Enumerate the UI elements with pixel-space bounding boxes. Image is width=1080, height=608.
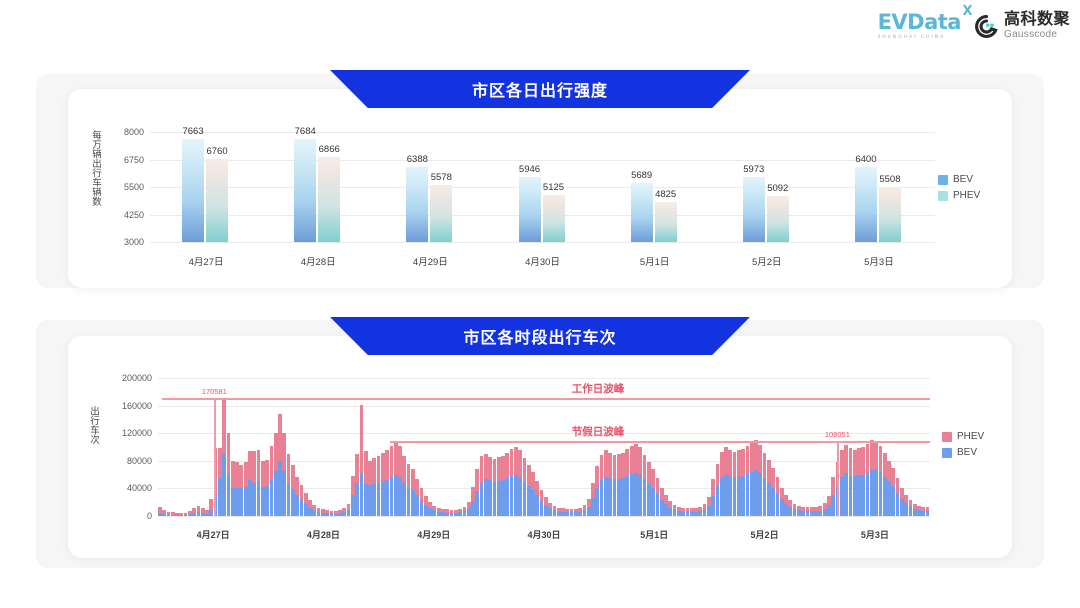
- chart2-segment-bev: [660, 500, 664, 516]
- chart2-stacked-bar[interactable]: [763, 453, 767, 516]
- chart2-stacked-bar[interactable]: [613, 455, 617, 516]
- chart2-segment-bev: [505, 478, 509, 516]
- chart2-stacked-bar[interactable]: [445, 509, 449, 516]
- chart2-stacked-bar[interactable]: [312, 505, 316, 516]
- chart2-segment-bev: [239, 488, 243, 516]
- chart2-stacked-bar[interactable]: [741, 449, 745, 516]
- chart2-stacked-bar[interactable]: [261, 461, 265, 516]
- chart2-segment-phev: [763, 453, 767, 479]
- chart2-stacked-bar[interactable]: [664, 495, 668, 516]
- chart2-stacked-bar[interactable]: [390, 446, 394, 516]
- chart2-stacked-bar[interactable]: [921, 507, 925, 516]
- chart2-stacked-bar[interactable]: [638, 447, 642, 516]
- chart2-stacked-bar[interactable]: [398, 446, 402, 516]
- chart2-segment-bev: [188, 514, 192, 516]
- chart2-stacked-bar[interactable]: [300, 485, 304, 516]
- chart2-stacked-bar[interactable]: [385, 450, 389, 516]
- chart2-stacked-bar[interactable]: [681, 508, 685, 516]
- chart2-stacked-bar[interactable]: [604, 450, 608, 516]
- chart2-stacked-bar[interactable]: [222, 398, 226, 516]
- chart2-x-tick-label: 5月3日: [861, 528, 889, 541]
- chart2-stacked-bar[interactable]: [420, 488, 424, 516]
- chart2-segment-phev: [857, 448, 861, 475]
- chart2-x-tick-label: 4月29日: [417, 528, 450, 541]
- chart2-legend-item-bev[interactable]: BEV: [942, 447, 984, 458]
- chart2-stacked-bar[interactable]: [407, 464, 411, 516]
- chart2-stacked-bar[interactable]: [776, 477, 780, 516]
- chart2-stacked-bar[interactable]: [698, 507, 702, 516]
- chart2-stacked-bar[interactable]: [330, 511, 334, 516]
- chart2-segment-phev: [651, 469, 655, 488]
- chart2-segment-bev: [291, 489, 295, 516]
- chart2-segment-phev: [415, 479, 419, 496]
- chart2-segment-bev: [921, 511, 925, 516]
- chart2-segment-phev: [514, 447, 518, 475]
- chart2-stacked-bar[interactable]: [750, 442, 754, 516]
- chart2-stacked-bar[interactable]: [463, 507, 467, 516]
- chart2-segment-bev: [394, 475, 398, 516]
- chart2-segment-phev: [274, 433, 278, 471]
- chart2-stacked-bar[interactable]: [278, 414, 282, 516]
- legend-swatch-icon: [942, 448, 952, 458]
- chart2-stacked-bar[interactable]: [643, 455, 647, 516]
- chart2-stacked-bar[interactable]: [900, 488, 904, 516]
- chart2-stacked-bar[interactable]: [192, 508, 196, 516]
- chart2-segment-bev: [454, 513, 458, 516]
- chart2-stacked-bar[interactable]: [158, 507, 162, 516]
- chart2-stacked-bar[interactable]: [488, 457, 492, 516]
- chart2-stacked-bar[interactable]: [394, 442, 398, 517]
- chart2-segment-bev: [523, 482, 527, 517]
- chart2-stacked-bar[interactable]: [647, 462, 651, 516]
- chart2-segment-bev: [441, 512, 445, 516]
- chart2-stacked-bar[interactable]: [703, 504, 707, 516]
- chart2-segment-bev: [205, 514, 209, 516]
- chart2-segment-phev: [544, 497, 548, 505]
- chart2-segment-phev: [891, 468, 895, 486]
- chart2-stacked-bar[interactable]: [368, 461, 372, 516]
- chart2-stacked-bar[interactable]: [668, 501, 672, 516]
- chart2-segment-bev: [613, 479, 617, 516]
- chart2-stacked-bar[interactable]: [437, 508, 441, 516]
- chart2-segment-phev: [656, 478, 660, 494]
- chart2-segment-bev: [231, 488, 235, 516]
- chart2-segment-phev: [364, 451, 368, 484]
- chart2-segment-bev: [201, 513, 205, 516]
- chart2-y-tick-label: 40000: [104, 483, 152, 493]
- chart2-segment-phev: [304, 493, 308, 504]
- chart2-stacked-bar[interactable]: [248, 451, 252, 516]
- chart2-stacked-bar[interactable]: [505, 453, 509, 516]
- chart2-segment-bev: [733, 477, 737, 516]
- chart2-segment-bev: [527, 486, 531, 516]
- chart2-stacked-bar[interactable]: [595, 466, 599, 516]
- chart2-segment-bev: [282, 471, 286, 516]
- chart2-segment-bev: [407, 487, 411, 516]
- chart2-segment-bev: [806, 511, 810, 516]
- chart2-stacked-bar[interactable]: [244, 462, 248, 516]
- chart2-stacked-bar[interactable]: [625, 449, 629, 516]
- chart2-segment-phev: [424, 496, 428, 505]
- chart2-stacked-bar[interactable]: [209, 499, 213, 516]
- chart2-segment-bev: [158, 513, 162, 516]
- chart2-stacked-bar[interactable]: [415, 479, 419, 516]
- chart2-stacked-bar[interactable]: [458, 509, 462, 516]
- chart2-segment-phev: [720, 452, 724, 478]
- chart2-segment-phev: [750, 442, 754, 472]
- chart2-stacked-bar[interactable]: [342, 508, 346, 516]
- chart2-stacked-bar[interactable]: [184, 513, 188, 516]
- chart2-segment-bev: [686, 512, 690, 516]
- chart2-stacked-bar[interactable]: [360, 405, 364, 516]
- chart2-segment-phev: [831, 477, 835, 494]
- chart2-stacked-bar[interactable]: [793, 504, 797, 516]
- chart2-stacked-bar[interactable]: [844, 445, 848, 516]
- chart2-stacked-bar[interactable]: [227, 433, 231, 516]
- chart2-legend: PHEVBEV: [942, 431, 984, 458]
- chart2-stacked-bar[interactable]: [690, 508, 694, 516]
- chart2-stacked-bar[interactable]: [424, 496, 428, 516]
- chart2-legend-label: PHEV: [957, 431, 984, 442]
- chart2-segment-bev: [334, 514, 338, 516]
- chart2-stacked-bar[interactable]: [454, 510, 458, 516]
- chart2-stacked-bar[interactable]: [197, 506, 201, 516]
- section1-title-text: 市区各日出行强度: [472, 77, 608, 101]
- chart2-segment-bev: [844, 473, 848, 516]
- chart2-segment-bev: [347, 510, 351, 516]
- chart2-segment-bev: [540, 501, 544, 516]
- chart2-gridline: [158, 378, 930, 379]
- chart2-segment-phev: [866, 444, 870, 473]
- chart2-stacked-bar[interactable]: [651, 469, 655, 516]
- chart2-stacked-bar[interactable]: [780, 488, 784, 516]
- chart2-stacked-bar[interactable]: [767, 460, 771, 516]
- chart2-stacked-bar[interactable]: [531, 472, 535, 516]
- chart2-stacked-bar[interactable]: [274, 433, 278, 516]
- chart2-stacked-bar[interactable]: [733, 452, 737, 516]
- chart2-stacked-bar[interactable]: [484, 454, 488, 516]
- chart2-stacked-bar[interactable]: [497, 457, 501, 516]
- chart2-segment-bev: [656, 494, 660, 516]
- chart2-segment-bev: [304, 504, 308, 516]
- chart2-stacked-bar[interactable]: [818, 506, 822, 516]
- chart2-stacked-bar[interactable]: [201, 508, 205, 516]
- chart2-stacked-bar[interactable]: [411, 469, 415, 516]
- chart2-segment-bev: [355, 483, 359, 516]
- chart2-stacked-bar[interactable]: [917, 506, 921, 516]
- chart2-stacked-bar[interactable]: [257, 450, 261, 516]
- chart2-stacked-bar[interactable]: [853, 450, 857, 516]
- chart2-segment-bev: [544, 505, 548, 516]
- chart2-segment-phev: [531, 472, 535, 490]
- chart2-segment-phev: [617, 454, 621, 479]
- chart2-stacked-bar[interactable]: [874, 442, 878, 517]
- chart2-stacked-bar[interactable]: [630, 446, 634, 516]
- chart2-stacked-bar[interactable]: [617, 454, 621, 516]
- chart2-stacked-bar[interactable]: [282, 433, 286, 516]
- chart2-stacked-bar[interactable]: [304, 493, 308, 516]
- chart2-stacked-bar[interactable]: [544, 497, 548, 516]
- chart2-segment-bev: [818, 511, 822, 516]
- chart2-stacked-bar[interactable]: [677, 507, 681, 516]
- chart2-segment-bev: [218, 478, 222, 516]
- chart2-stacked-bar[interactable]: [171, 512, 175, 516]
- chart2-peak-stem: [837, 441, 838, 516]
- chart2-segment-phev: [746, 446, 750, 474]
- chart2-stacked-bar[interactable]: [308, 500, 312, 516]
- chart2-segment-phev: [754, 440, 758, 470]
- chart2-stacked-bar[interactable]: [600, 455, 604, 516]
- chart2-stacked-bar[interactable]: [467, 502, 471, 516]
- chart2-segment-bev: [497, 481, 501, 516]
- chart2-stacked-bar[interactable]: [909, 500, 913, 516]
- chart2-segment-phev: [282, 433, 286, 472]
- chart2-stacked-bar[interactable]: [758, 445, 762, 516]
- chart2-stacked-bar[interactable]: [578, 508, 582, 516]
- section2-title-text: 市区各时段出行车次: [463, 324, 616, 348]
- chart2-segment-phev: [861, 447, 865, 475]
- chart2-stacked-bar[interactable]: [338, 510, 342, 516]
- chart2-stacked-bar[interactable]: [231, 461, 235, 516]
- chart2-stacked-bar[interactable]: [402, 456, 406, 516]
- chart2-stacked-bar[interactable]: [188, 511, 192, 516]
- chart2-segment-bev: [694, 512, 698, 516]
- chart2-segment-bev: [510, 476, 514, 516]
- chart2-stacked-bar[interactable]: [325, 510, 329, 516]
- chart2-stacked-bar[interactable]: [587, 499, 591, 516]
- chart2-stacked-bar[interactable]: [660, 488, 664, 516]
- chart2-stacked-bar[interactable]: [205, 510, 209, 516]
- chart2-stacked-bar[interactable]: [265, 460, 269, 516]
- chart2-stacked-bar[interactable]: [784, 495, 788, 516]
- chart2-stacked-bar[interactable]: [347, 504, 351, 516]
- chart2-stacked-bar[interactable]: [493, 459, 497, 516]
- chart2-segment-bev: [167, 514, 171, 516]
- chart2-stacked-bar[interactable]: [694, 508, 698, 516]
- chart2-segment-phev: [784, 495, 788, 504]
- chart2-stacked-bar[interactable]: [771, 468, 775, 516]
- chart2-stacked-bar[interactable]: [810, 507, 814, 516]
- chart2-segment-bev: [849, 475, 853, 516]
- chart2-annotation-line: [162, 398, 930, 399]
- chart2-stacked-bar[interactable]: [656, 478, 660, 516]
- chart2-stacked-bar[interactable]: [883, 453, 887, 516]
- chart2-stacked-bar[interactable]: [857, 448, 861, 516]
- chart2-stacked-bar[interactable]: [879, 446, 883, 516]
- chart2-segment-bev: [574, 512, 578, 516]
- chart2-segment-phev: [351, 476, 355, 495]
- chart2-gridline: [158, 406, 930, 407]
- chart2-stacked-bar[interactable]: [270, 446, 274, 516]
- chart2-stacked-bar[interactable]: [608, 453, 612, 516]
- chart2-stacked-bar[interactable]: [724, 447, 728, 516]
- chart2-stacked-bar[interactable]: [510, 449, 514, 516]
- chart2-segment-bev: [330, 513, 334, 516]
- chart2-segment-phev: [630, 446, 634, 474]
- chart2-segment-bev: [720, 478, 724, 516]
- chart2-stacked-bar[interactable]: [788, 500, 792, 516]
- chart2-stacked-bar[interactable]: [450, 510, 454, 516]
- chart2-stacked-bar[interactable]: [827, 496, 831, 516]
- chart2-segment-bev: [776, 493, 780, 516]
- chart2-segment-phev: [664, 495, 668, 504]
- chart2-stacked-bar[interactable]: [891, 468, 895, 516]
- chart2-stacked-bar[interactable]: [535, 481, 539, 516]
- chart2-peak-value-label: 170581: [202, 387, 227, 396]
- chart2-segment-phev: [420, 488, 424, 500]
- chart2-segment-bev: [793, 509, 797, 516]
- chart2-stacked-bar[interactable]: [287, 454, 291, 516]
- chart2-segment-phev: [218, 448, 222, 478]
- chart2-segment-phev: [840, 450, 844, 477]
- chart2-stacked-bar[interactable]: [167, 512, 171, 516]
- chart2-segment-bev: [377, 483, 381, 516]
- chart2-stacked-bar[interactable]: [737, 450, 741, 516]
- chart2-stacked-bar[interactable]: [252, 451, 256, 516]
- chart2-stacked-bar[interactable]: [291, 465, 295, 516]
- chart2-stacked-bar[interactable]: [621, 453, 625, 516]
- chart2-segment-phev: [239, 465, 243, 488]
- chart2-stacked-bar[interactable]: [746, 446, 750, 516]
- chart2-stacked-bar[interactable]: [480, 456, 484, 516]
- chart2-stacked-bar[interactable]: [561, 508, 565, 516]
- chart2-stacked-bar[interactable]: [673, 505, 677, 516]
- chart2-segment-bev: [222, 454, 226, 516]
- chart2-stacked-bar[interactable]: [218, 448, 222, 516]
- chart2-stacked-bar[interactable]: [728, 450, 732, 516]
- chart2-stacked-bar[interactable]: [806, 507, 810, 516]
- chart2-stacked-bar[interactable]: [381, 453, 385, 516]
- chart2-stacked-bar[interactable]: [514, 447, 518, 516]
- chart2-stacked-bar[interactable]: [557, 508, 561, 516]
- chart2-segment-bev: [488, 480, 492, 516]
- chart2-segment-bev: [325, 513, 329, 516]
- chart2-stacked-bar[interactable]: [866, 444, 870, 516]
- chart2-stacked-bar[interactable]: [711, 479, 715, 516]
- chart2-segment-phev: [540, 490, 544, 501]
- chart2-stacked-bar[interactable]: [162, 510, 166, 516]
- chart2-stacked-bar[interactable]: [527, 465, 531, 516]
- chart2-stacked-bar[interactable]: [574, 509, 578, 516]
- chart2-segment-phev: [278, 414, 282, 461]
- chart2-stacked-bar[interactable]: [239, 465, 243, 516]
- chart2-segment-bev: [784, 504, 788, 516]
- chart2-stacked-bar[interactable]: [870, 440, 874, 516]
- chart2-segment-bev: [385, 480, 389, 516]
- chart2-stacked-bar[interactable]: [317, 508, 321, 516]
- chart2-stacked-bar[interactable]: [801, 507, 805, 516]
- chart2-stacked-bar[interactable]: [823, 503, 827, 516]
- chart2-stacked-bar[interactable]: [565, 509, 569, 516]
- chart2-segment-bev: [823, 509, 827, 516]
- chart2-segment-bev: [424, 505, 428, 516]
- chart2-segment-bev: [866, 473, 870, 516]
- chart2-segment-bev: [900, 499, 904, 516]
- chart2-stacked-bar[interactable]: [175, 513, 179, 516]
- chart2-stacked-bar[interactable]: [591, 483, 595, 516]
- chart2-stacked-bar[interactable]: [377, 456, 381, 516]
- chart2-segment-bev: [411, 490, 415, 516]
- chart2-annotation-label: 节假日波峰: [572, 424, 625, 439]
- chart2-segment-phev: [896, 478, 900, 492]
- chart2-segment-bev: [707, 506, 711, 516]
- chart2-segment-bev: [780, 499, 784, 516]
- chart2-stacked-bar[interactable]: [583, 505, 587, 516]
- chart2-stacked-bar[interactable]: [913, 504, 917, 516]
- chart2-stacked-bar[interactable]: [372, 458, 376, 516]
- chart2-stacked-bar[interactable]: [707, 497, 711, 516]
- chart2-stacked-bar[interactable]: [518, 450, 522, 516]
- chart2-stacked-bar[interactable]: [686, 508, 690, 516]
- chart2-stacked-bar[interactable]: [887, 461, 891, 516]
- chart2-segment-bev: [917, 510, 921, 516]
- chart2-segment-phev: [604, 450, 608, 476]
- chart2-stacked-bar[interactable]: [355, 454, 359, 516]
- chart2-stacked-bar[interactable]: [797, 506, 801, 516]
- chart2-stacked-bar[interactable]: [849, 448, 853, 516]
- chart2-stacked-bar[interactable]: [523, 458, 527, 516]
- chart2-stacked-bar[interactable]: [814, 507, 818, 516]
- chart2-stacked-bar[interactable]: [548, 503, 552, 516]
- chart2-stacked-bar[interactable]: [235, 462, 239, 517]
- chart2-segment-bev: [471, 501, 475, 516]
- chart2-stacked-bar[interactable]: [432, 506, 436, 516]
- chart2-segment-bev: [197, 512, 201, 516]
- chart2-stacked-bar[interactable]: [861, 447, 865, 516]
- chart2-segment-phev: [385, 450, 389, 480]
- chart2-stacked-bar[interactable]: [754, 440, 758, 516]
- chart2-segment-phev: [711, 479, 715, 496]
- chart2-stacked-bar[interactable]: [475, 469, 479, 516]
- chart2-legend-item-phev[interactable]: PHEV: [942, 431, 984, 442]
- chart2-stacked-bar[interactable]: [428, 502, 432, 516]
- chart2-stacked-bar[interactable]: [441, 509, 445, 516]
- chart2-annotation-line: [390, 441, 930, 442]
- chart2-segment-bev: [257, 482, 261, 516]
- chart2-stacked-bar[interactable]: [471, 487, 475, 516]
- chart2-segment-bev: [415, 495, 419, 516]
- chart2-stacked-bar[interactable]: [364, 451, 368, 516]
- chart2-stacked-bar[interactable]: [634, 444, 638, 516]
- chart2-stacked-bar[interactable]: [295, 477, 299, 516]
- chart2-segment-phev: [771, 468, 775, 487]
- chart2-stacked-bar[interactable]: [831, 477, 835, 516]
- chart2-segment-bev: [484, 479, 488, 516]
- chart2-stacked-bar[interactable]: [501, 456, 505, 516]
- chart2-y-tick-label: 80000: [104, 456, 152, 466]
- chart2-stacked-bar[interactable]: [553, 506, 557, 516]
- chart2-stacked-bar[interactable]: [351, 476, 355, 516]
- chart2-stacked-bar[interactable]: [840, 450, 844, 516]
- chart2-segment-bev: [274, 471, 278, 516]
- chart2-stacked-bar[interactable]: [570, 509, 574, 516]
- chart2-stacked-bar[interactable]: [716, 464, 720, 516]
- chart2-segment-bev: [891, 486, 895, 516]
- chart2-stacked-bar[interactable]: [720, 452, 724, 516]
- chart2-stacked-bar[interactable]: [321, 509, 325, 516]
- chart2-stacked-bar[interactable]: [540, 490, 544, 516]
- chart2-segment-bev: [493, 482, 497, 517]
- chart2-stacked-bar[interactable]: [896, 478, 900, 516]
- chart2-stacked-bar[interactable]: [334, 511, 338, 516]
- chart2-stacked-bar[interactable]: [904, 495, 908, 516]
- chart2-segment-phev: [501, 456, 505, 480]
- chart2-stacked-bar[interactable]: [926, 507, 930, 516]
- chart2-stacked-bar[interactable]: [179, 513, 183, 516]
- chart2-segment-phev: [355, 454, 359, 483]
- chart2-segment-phev: [257, 450, 261, 482]
- chart2-segment-bev: [351, 495, 355, 516]
